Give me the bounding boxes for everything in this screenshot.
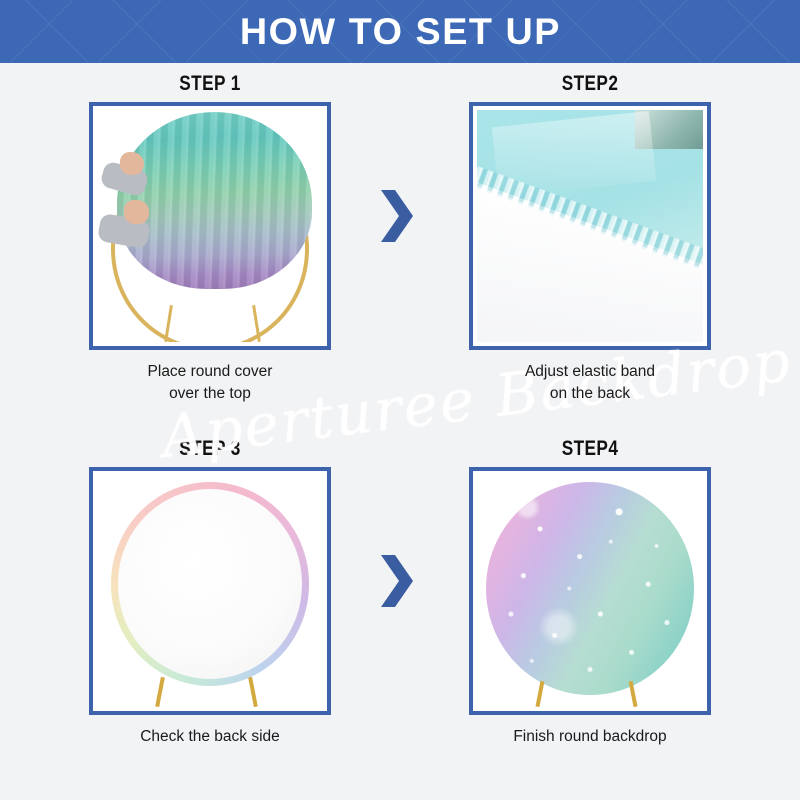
- chevron-right-icon: [375, 188, 417, 244]
- step-caption-4: Finish round backdrop: [430, 726, 750, 748]
- step-image-frame-3: [89, 467, 331, 715]
- gradient-cover-cloth-shape: [117, 112, 311, 288]
- step-caption-2: Adjust elastic band on the back: [430, 361, 750, 405]
- page-header: HOW TO SET UP: [0, 0, 800, 63]
- step-caption-1-line-1: Place round cover: [50, 361, 370, 383]
- photo-placing-cover-on-hoop: [97, 110, 323, 342]
- step-label-3: STEP 3: [79, 438, 341, 460]
- backdrop-back-disc-shape: [111, 482, 310, 686]
- step-label-1: STEP 1: [79, 73, 341, 95]
- step-image-frame-2: [469, 102, 711, 350]
- person-hand-upper-shape: [120, 152, 145, 175]
- person-hand-lower-shape: [124, 200, 149, 223]
- photo-backdrop-back-side: [97, 475, 323, 707]
- step-caption-2-line-1: Adjust elastic band: [430, 361, 750, 383]
- step-image-frame-1: [89, 102, 331, 350]
- finished-backdrop-disc-shape: [486, 482, 694, 695]
- step-card-2: STEP2 Adjust elastic band on the back: [430, 73, 750, 405]
- step-caption-4-line-1: Finish round backdrop: [430, 726, 750, 748]
- backdrop-back-white-face-shape: [118, 489, 303, 679]
- step-caption-1-line-2: over the top: [50, 383, 370, 405]
- step-card-4: STEP4 Finish round backdrop: [430, 438, 750, 748]
- step-card-1: STEP 1 Place round cover over the top: [50, 73, 370, 405]
- step-label-2: STEP2: [459, 73, 721, 95]
- page-title: HOW TO SET UP: [239, 13, 560, 50]
- step-card-3: STEP 3 Check the back side: [50, 438, 370, 748]
- step-label-4: STEP4: [459, 438, 721, 460]
- step-caption-3: Check the back side: [50, 726, 370, 748]
- photo-finished-round-backdrop: [477, 475, 703, 707]
- step-caption-2-line-2: on the back: [430, 383, 750, 405]
- photo-elastic-band-closeup: [477, 110, 703, 342]
- steps-grid: Aperturee Backdrop STEP 1 Place round co…: [0, 63, 800, 800]
- step-image-frame-4: [469, 467, 711, 715]
- step-caption-1: Place round cover over the top: [50, 361, 370, 405]
- step-caption-3-line-1: Check the back side: [50, 726, 370, 748]
- chevron-right-icon: [375, 553, 417, 609]
